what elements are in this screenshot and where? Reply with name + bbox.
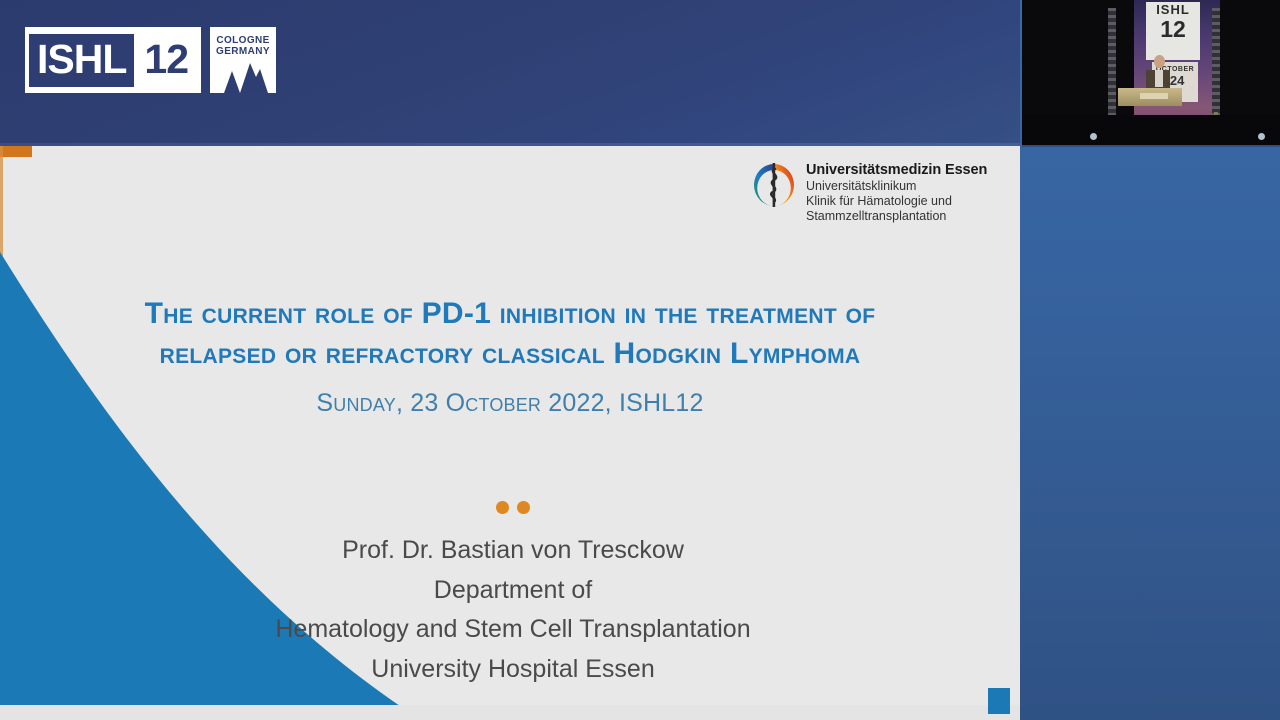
ishl-logo-plate: ISHL 12 (25, 27, 201, 93)
institution-logo-text: Universitätsmedizin Essen Universitätskl… (806, 160, 987, 224)
ishl-logo-acronym: ISHL (29, 34, 134, 87)
cologne-cathedral-spires-icon (210, 59, 276, 93)
lectern-nameplate (1140, 93, 1168, 99)
ishl12-logo: ISHL 12 COLOGNE GERMANY (25, 27, 276, 93)
orange-dots-divider (0, 501, 1020, 514)
banner-sign-number: 12 (1146, 17, 1200, 41)
presenter-block: Prof. Dr. Bastian von Tresckow Departmen… (60, 531, 960, 689)
slide-title-line-2: relapsed or refractory classical Hodgkin… (60, 334, 960, 374)
presenter-affiliation-1: Department of (66, 571, 960, 611)
speaker-video-feed[interactable]: ISHL 12 OCTOBER -24 22 (1022, 0, 1280, 147)
slide-title-line-1: The current role of PD-1 inhibition in t… (60, 294, 960, 334)
speaker-shirt (1155, 70, 1163, 87)
slide-bottom-strip (0, 705, 1020, 720)
slide-body: Universitätsmedizin Essen Universitätskl… (0, 146, 1020, 720)
orange-dot-2 (517, 501, 530, 514)
institution-name: Universitätsmedizin Essen (806, 162, 987, 179)
orange-dot-1 (496, 501, 509, 514)
universitaetsmedizin-essen-logo: Universitätsmedizin Essen Universitätskl… (752, 160, 987, 224)
institution-sub3: Stammzelltransplantation (806, 209, 987, 224)
ishl-logo-city-line1: COLOGNE (210, 35, 276, 46)
presenter-affiliation-3: University Hospital Essen (66, 650, 960, 690)
ishl-logo-city-plate: COLOGNE GERMANY (210, 27, 276, 93)
presenter-name: Prof. Dr. Bastian von Tresckow (66, 531, 960, 571)
ishl-logo-edition: 12 (134, 34, 197, 87)
stage-floor (1022, 115, 1280, 145)
institution-sub2: Klinik für Hämatologie und (806, 194, 987, 209)
banner-sign-acronym: ISHL (1146, 2, 1200, 17)
presentation-slide: ISHL 12 COLOGNE GERMANY (0, 0, 1020, 720)
institution-sub1: Universitätsklinikum (806, 179, 987, 194)
ishl-logo-city-text: COLOGNE GERMANY (210, 27, 276, 57)
slide-subtitle: Sunday, 23 October 2022, ISHL12 (60, 386, 960, 420)
blue-corner-accent (988, 688, 1010, 714)
screen: ISHL 12 COLOGNE GERMANY (0, 0, 1280, 720)
presenter-affiliation-2: Hematology and Stem Cell Transplantation (66, 610, 960, 650)
stage-light-1 (1090, 133, 1097, 140)
slide-title-block: The current role of PD-1 inhibition in t… (60, 294, 960, 420)
asclepius-rod-rainbow-ring-icon (752, 160, 796, 210)
stage-light-2 (1258, 133, 1265, 140)
banner-ishl12-sign: ISHL 12 (1146, 2, 1200, 60)
speaker-head (1154, 55, 1165, 68)
ishl-logo-city-line2: GERMANY (210, 46, 276, 57)
